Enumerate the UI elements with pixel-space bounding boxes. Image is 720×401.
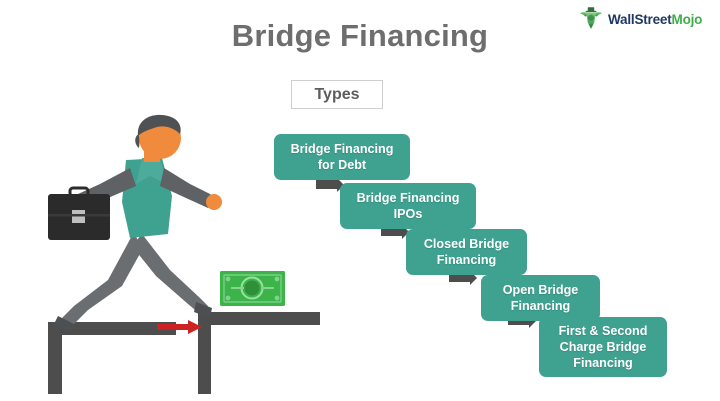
money-ledge: [198, 312, 298, 325]
connector-horizontal-segment: [316, 180, 338, 189]
infographic-canvas: WallStreetMojo Bridge Financing Types: [0, 0, 720, 401]
step-line: Financing: [559, 355, 648, 371]
step-line: Financing: [424, 252, 509, 268]
page-title: Bridge Financing: [0, 18, 720, 54]
step-line: for Debt: [291, 157, 394, 173]
briefcase-icon: [48, 188, 110, 240]
step-line: IPOs: [357, 206, 460, 222]
step-box-first-second-charge-bridge-financing[interactable]: First & Second Charge Bridge Financing: [539, 317, 667, 377]
step-box-bridge-financing-ipos[interactable]: Bridge Financing IPOs: [340, 183, 476, 229]
running-businessman: [48, 115, 222, 332]
step-line: First & Second: [559, 323, 648, 339]
step-box-closed-bridge-financing[interactable]: Closed Bridge Financing: [406, 229, 527, 275]
types-label-text: Types: [314, 86, 359, 104]
left-platform: [48, 322, 176, 394]
step-line: Financing: [503, 298, 579, 314]
types-label-box: Types: [291, 80, 383, 109]
step-line: Bridge Financing: [357, 190, 460, 206]
step-line: Bridge Financing: [291, 141, 394, 157]
step-line: Charge Bridge: [559, 339, 648, 355]
step-box-open-bridge-financing[interactable]: Open Bridge Financing: [481, 275, 600, 321]
step-line: Closed Bridge: [424, 236, 509, 252]
dollar-bill-icon: [220, 271, 285, 306]
step-box-bridge-financing-for-debt[interactable]: Bridge Financing for Debt: [274, 134, 410, 180]
step-line: Open Bridge: [503, 282, 579, 298]
